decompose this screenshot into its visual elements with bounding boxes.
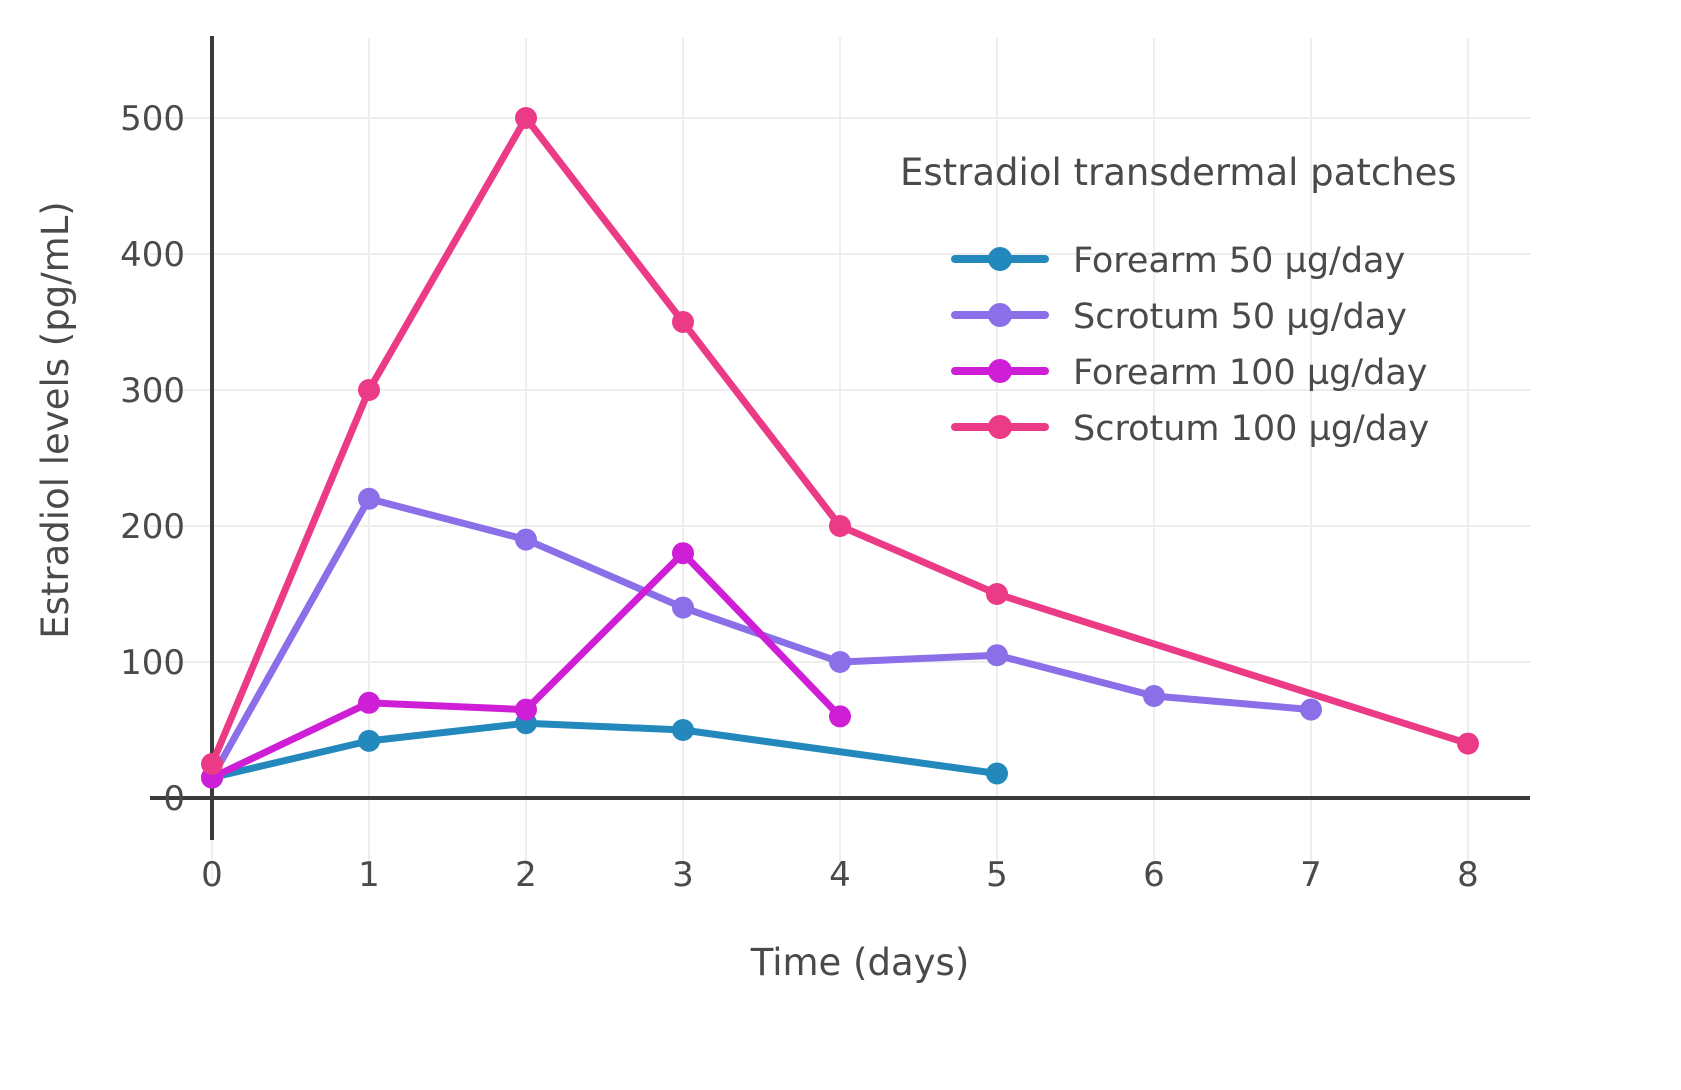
data-point-marker [986, 644, 1008, 666]
x-tick-label: 1 [358, 855, 380, 895]
y-tick-label: 400 [120, 235, 185, 275]
x-tick-label: 5 [986, 855, 1008, 895]
data-point-marker [672, 311, 694, 333]
chart-container: 0100200300400500012345678 Estradiol leve… [0, 0, 1681, 1090]
data-point-marker [986, 763, 1008, 785]
y-tick-label: 500 [120, 99, 185, 139]
data-point-marker [515, 699, 537, 721]
y-tick-label: 300 [120, 371, 185, 411]
legend-item-label: Forearm 50 µg/day [1073, 241, 1405, 281]
x-tick-label: 7 [1300, 855, 1322, 895]
x-tick-label: 6 [1143, 855, 1165, 895]
data-point-marker [829, 651, 851, 673]
data-point-marker [672, 719, 694, 741]
line-chart: 0100200300400500012345678 Estradiol leve… [0, 0, 1681, 1090]
x-tick-label: 0 [201, 855, 223, 895]
data-point-marker [829, 705, 851, 727]
legend-item-label: Scrotum 50 µg/day [1073, 297, 1407, 337]
y-tick-label: 0 [163, 779, 185, 819]
data-point-marker [358, 730, 380, 752]
y-tick-label: 100 [120, 643, 185, 683]
data-point-marker [672, 597, 694, 619]
data-point-marker [358, 488, 380, 510]
x-axis-title: Time (days) [750, 941, 970, 984]
data-point-marker [1300, 699, 1322, 721]
legend-marker-icon [988, 415, 1012, 439]
y-axis-title: Estradiol levels (pg/mL) [34, 201, 77, 638]
data-point-marker [829, 515, 851, 537]
legend-marker-icon [988, 359, 1012, 383]
data-point-marker [358, 379, 380, 401]
x-tick-label: 8 [1457, 855, 1479, 895]
x-tick-label: 3 [672, 855, 694, 895]
data-point-marker [672, 542, 694, 564]
legend-title: Estradiol transdermal patches [900, 151, 1457, 194]
data-point-marker [515, 107, 537, 129]
data-point-marker [358, 692, 380, 714]
x-tick-label: 4 [829, 855, 851, 895]
legend-marker-icon [988, 247, 1012, 271]
legend-item-label: Scrotum 100 µg/day [1073, 409, 1429, 449]
data-point-marker [515, 529, 537, 551]
x-tick-label: 2 [515, 855, 537, 895]
data-point-marker [986, 583, 1008, 605]
y-tick-label: 200 [120, 507, 185, 547]
legend-item-label: Forearm 100 µg/day [1073, 353, 1427, 393]
legend-marker-icon [988, 303, 1012, 327]
data-point-marker [201, 753, 223, 775]
data-point-marker [1143, 685, 1165, 707]
data-point-marker [1457, 733, 1479, 755]
